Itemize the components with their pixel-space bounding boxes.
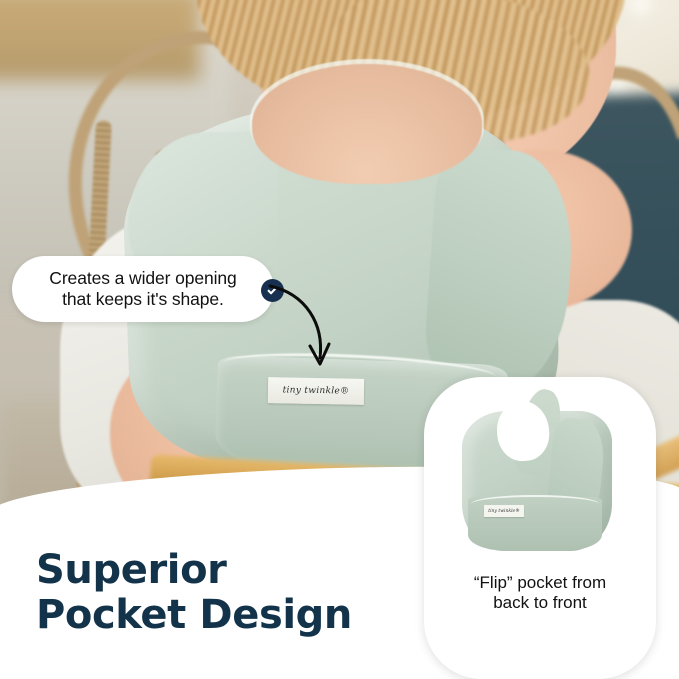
inset-brand-label-text: tiny twinkle® — [488, 509, 519, 514]
bib-neck-opening — [252, 64, 482, 184]
inset-brand-label: tiny twinkle® — [484, 505, 524, 517]
curved-arrow-icon — [262, 280, 372, 380]
callout-bubble: Creates a wider opening that keeps it's … — [12, 256, 274, 322]
callout-text: Creates a wider opening that keeps it's … — [49, 268, 236, 309]
inset-caption-line-1: “Flip” pocket from — [424, 573, 656, 593]
page-title: Superior Pocket Design — [36, 548, 352, 638]
callout-line-1: Creates a wider opening — [49, 268, 236, 288]
baby-bib-icon: tiny twinkle® — [424, 377, 656, 567]
brand-label-text: tiny twinkle® — [283, 385, 350, 396]
headline-line-1: Superior — [36, 548, 352, 593]
product-feature-image: tiny twinkle® Creates a wider opening th… — [0, 0, 679, 679]
inset-caption: “Flip” pocket from back to front — [424, 573, 656, 614]
callout-line-2: that keeps it's shape. — [62, 289, 224, 309]
inset-caption-line-2: back to front — [424, 593, 656, 613]
brand-label: tiny twinkle® — [268, 377, 364, 405]
headline-line-2: Pocket Design — [36, 593, 352, 638]
inset-product-card: tiny twinkle® “Flip” pocket from back to… — [424, 377, 656, 679]
